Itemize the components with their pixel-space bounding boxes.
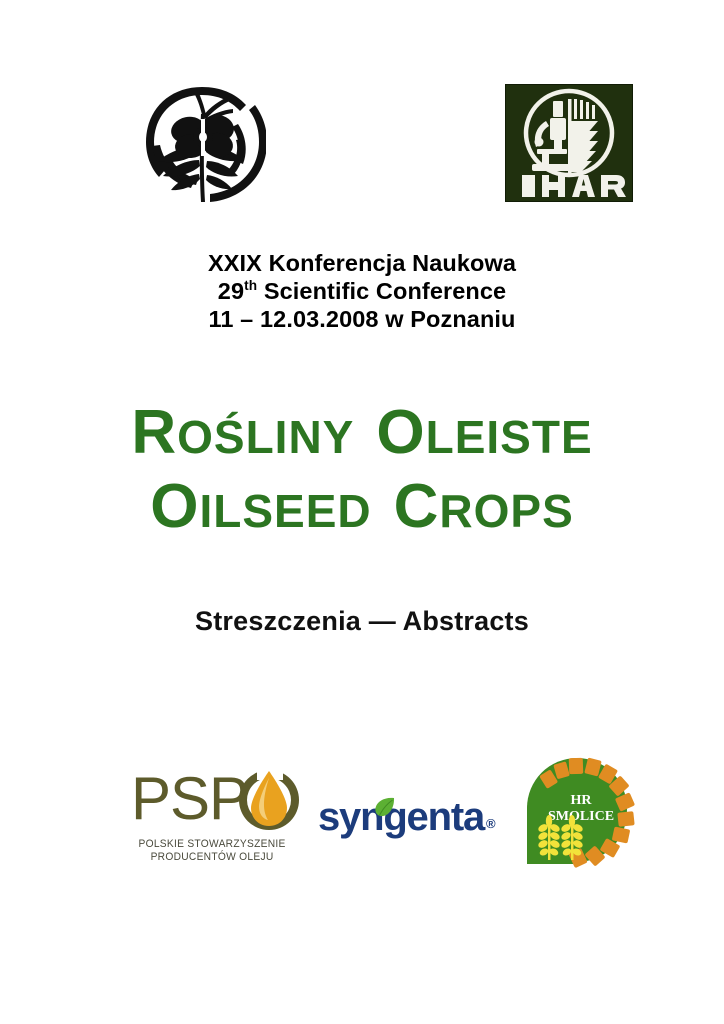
- syngenta-wordmark-row: syngenta®: [318, 796, 490, 847]
- green-leaf-icon: [374, 783, 396, 803]
- hr-smolice-logo-icon: HR SMOLICE: [519, 750, 635, 874]
- conference-ordinal-suffix: th: [244, 278, 257, 293]
- pspo-logo: PSP POLSKIE STOWARZYSZENIE PRODUCENTÓW: [131, 766, 303, 870]
- ihar-logo-icon: [505, 84, 633, 202]
- rapeseed-plant-emblem-icon: [138, 84, 266, 210]
- title-l1-w1-cap: R: [131, 398, 177, 467]
- title-line-polish: ROŚLINYOLEISTE: [0, 398, 724, 472]
- pspo-letters: PSP: [131, 768, 248, 830]
- svg-text:SMOLICE: SMOLICE: [548, 809, 614, 824]
- syngenta-wordmark: syngenta: [318, 795, 484, 839]
- conference-english-text: Scientific Conference: [264, 278, 506, 304]
- title-l1-w2-rest: LEISTE: [426, 411, 593, 463]
- title-l1-w1-rest: OŚLINY: [177, 411, 354, 463]
- title-l2-w2-rest: ROPS: [439, 485, 573, 537]
- oil-droplet-icon: [235, 766, 303, 834]
- conference-line-polish: XXIX Konferencja Naukowa: [0, 249, 724, 277]
- page-title: ROŚLINYOLEISTE OILSEEDCROPS: [0, 398, 724, 546]
- title-l2-w2-cap: C: [394, 472, 440, 541]
- conference-heading: XXIX Konferencja Naukowa 29th Scientific…: [0, 249, 724, 333]
- pspo-subtitle-line2: PRODUCENTÓW OLEJU: [133, 851, 291, 864]
- cover-page: XXIX Konferencja Naukowa 29th Scientific…: [0, 0, 724, 1024]
- pspo-subtitle-line1: POLSKIE STOWARZYSZENIE: [133, 838, 291, 851]
- top-logo-row: [0, 78, 724, 213]
- pspo-subtitle: POLSKIE STOWARZYSZENIE PRODUCENTÓW OLEJU: [133, 838, 291, 863]
- title-l2-w1-cap: O: [150, 472, 199, 541]
- conference-date-location: 11 – 12.03.2008 w Poznaniu: [0, 305, 724, 333]
- registered-trademark-icon: ®: [486, 816, 494, 831]
- pspo-mark: PSP: [131, 766, 303, 834]
- sponsor-logo-row: PSP POLSKIE STOWARZYSZENIE PRODUCENTÓW: [0, 748, 724, 878]
- conference-number: 29: [218, 278, 244, 304]
- title-line-english: OILSEEDCROPS: [0, 472, 724, 546]
- title-l2-w1-rest: ILSEED: [199, 485, 371, 537]
- conference-line-english: 29th Scientific Conference: [0, 277, 724, 305]
- page-subtitle: Streszczenia — Abstracts: [0, 606, 724, 637]
- syngenta-logo: syngenta®: [318, 796, 490, 848]
- title-l1-w2-cap: O: [376, 398, 425, 467]
- svg-text:HR: HR: [571, 793, 593, 808]
